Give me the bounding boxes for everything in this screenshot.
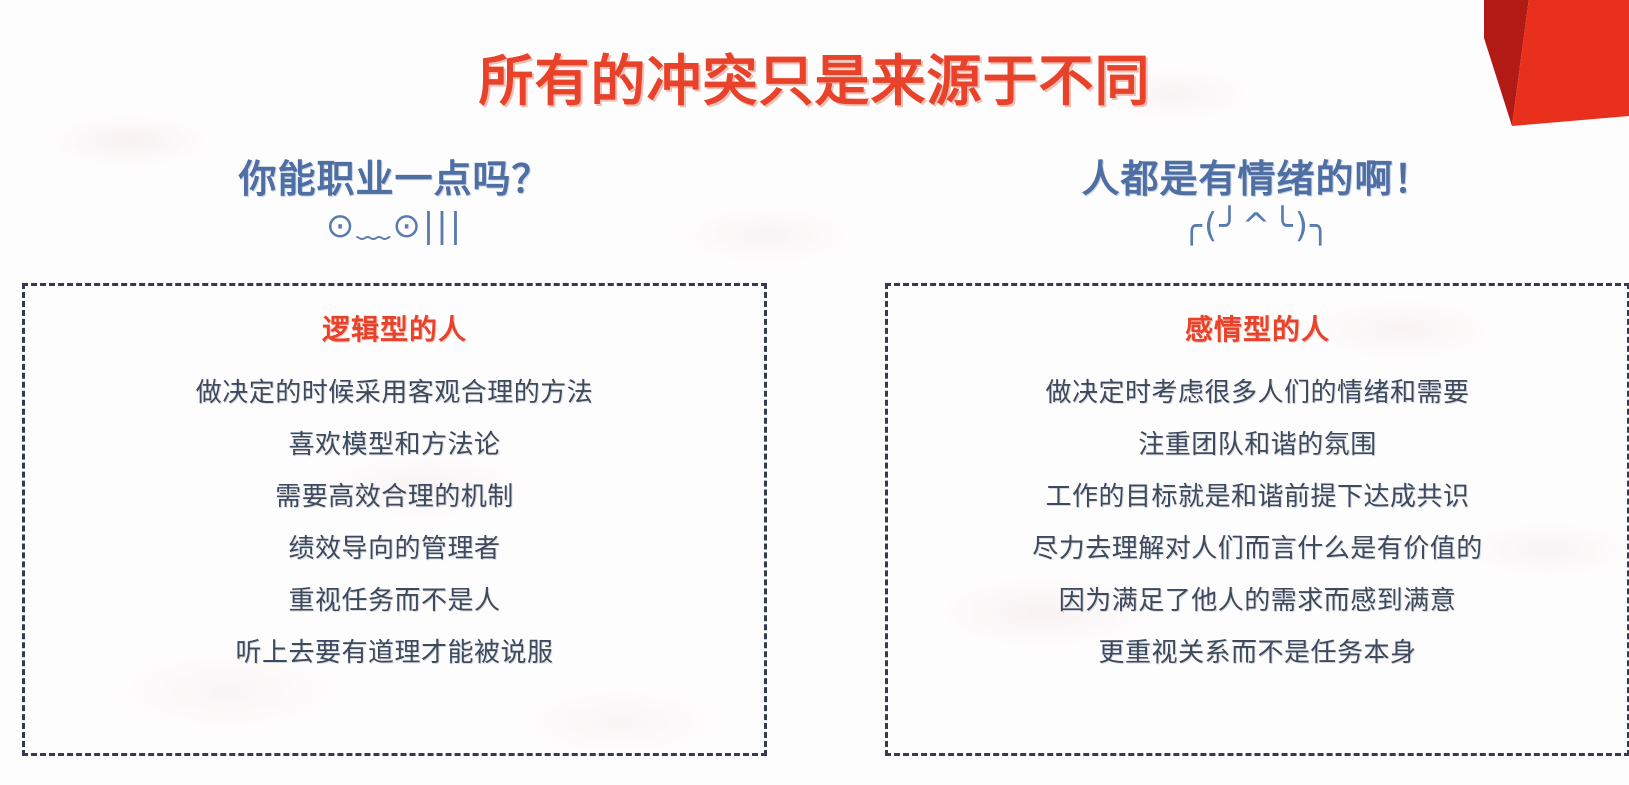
- list-item: 绩效导向的管理者: [25, 522, 764, 574]
- logical-type-panel-title: 逻辑型的人: [25, 308, 764, 348]
- list-item: 尽力去理解对人们而言什么是有价值的: [888, 522, 1627, 574]
- emotional-type-panel: 感情型的人 做决定时考虑很多人们的情绪和需要 注重团队和谐的氛围 工作的目标就是…: [885, 283, 1629, 756]
- confused-face-emoticon-icon: ⊙﹏⊙|||: [22, 208, 767, 245]
- list-item: 做决定时考虑很多人们的情绪和需要: [888, 366, 1627, 418]
- page-title: 所有的冲突只是来源于不同: [0, 36, 1629, 116]
- emotional-type-panel-title: 感情型的人: [888, 308, 1627, 348]
- list-item: 因为满足了他人的需求而感到满意: [888, 574, 1627, 626]
- list-item: 需要高效合理的机制: [25, 470, 764, 522]
- pouting-face-emoticon-icon: ╭(╯^╰)╮: [885, 208, 1629, 245]
- logical-type-panel: 逻辑型的人 做决定的时候采用客观合理的方法 喜欢模型和方法论 需要高效合理的机制…: [22, 283, 767, 756]
- logical-type-trait-list: 做决定的时候采用客观合理的方法 喜欢模型和方法论 需要高效合理的机制 绩效导向的…: [25, 366, 764, 678]
- column-left-header-group: 你能职业一点吗？ ⊙﹏⊙|||: [22, 160, 767, 245]
- slide-canvas: 所有的冲突只是来源于不同 你能职业一点吗？ ⊙﹏⊙||| 逻辑型的人 做决定的时…: [0, 0, 1629, 785]
- column-right-header-group: 人都是有情绪的啊！ ╭(╯^╰)╮: [885, 160, 1629, 245]
- list-item: 重视任务而不是人: [25, 574, 764, 626]
- list-item: 工作的目标就是和谐前提下达成共识: [888, 470, 1627, 522]
- list-item: 听上去要有道理才能被说服: [25, 626, 764, 678]
- list-item: 喜欢模型和方法论: [25, 418, 764, 470]
- column-left-heading: 你能职业一点吗？: [22, 160, 767, 202]
- list-item: 做决定的时候采用客观合理的方法: [25, 366, 764, 418]
- list-item: 更重视关系而不是任务本身: [888, 626, 1627, 678]
- column-right-heading: 人都是有情绪的啊！: [885, 160, 1629, 202]
- emotional-type-trait-list: 做决定时考虑很多人们的情绪和需要 注重团队和谐的氛围 工作的目标就是和谐前提下达…: [888, 366, 1627, 678]
- list-item: 注重团队和谐的氛围: [888, 418, 1627, 470]
